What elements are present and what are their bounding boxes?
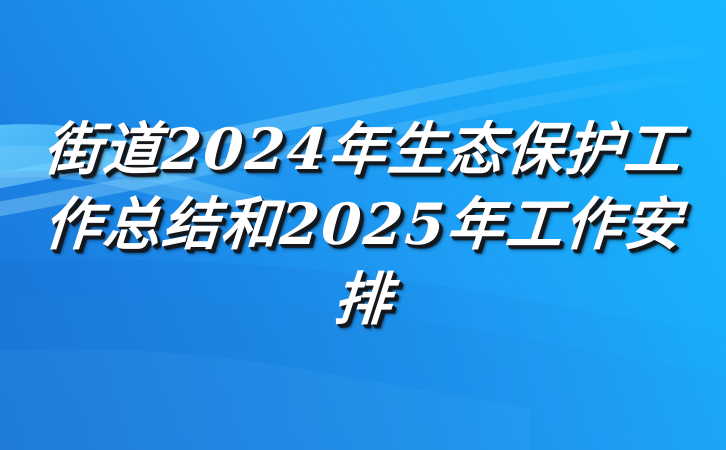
title-line-3: 排 [331, 262, 395, 337]
title-line-1: 街道2024年生态保护工 [41, 112, 685, 187]
title-line-2: 作总结和2025年工作安 [41, 187, 685, 262]
bottom-left-sheen [0, 349, 530, 450]
banner-title-block: 街道2024年生态保护工 作总结和2025年工作安 排 [0, 112, 726, 337]
title-banner: 街道2024年生态保护工 作总结和2025年工作安 排 [0, 0, 726, 450]
